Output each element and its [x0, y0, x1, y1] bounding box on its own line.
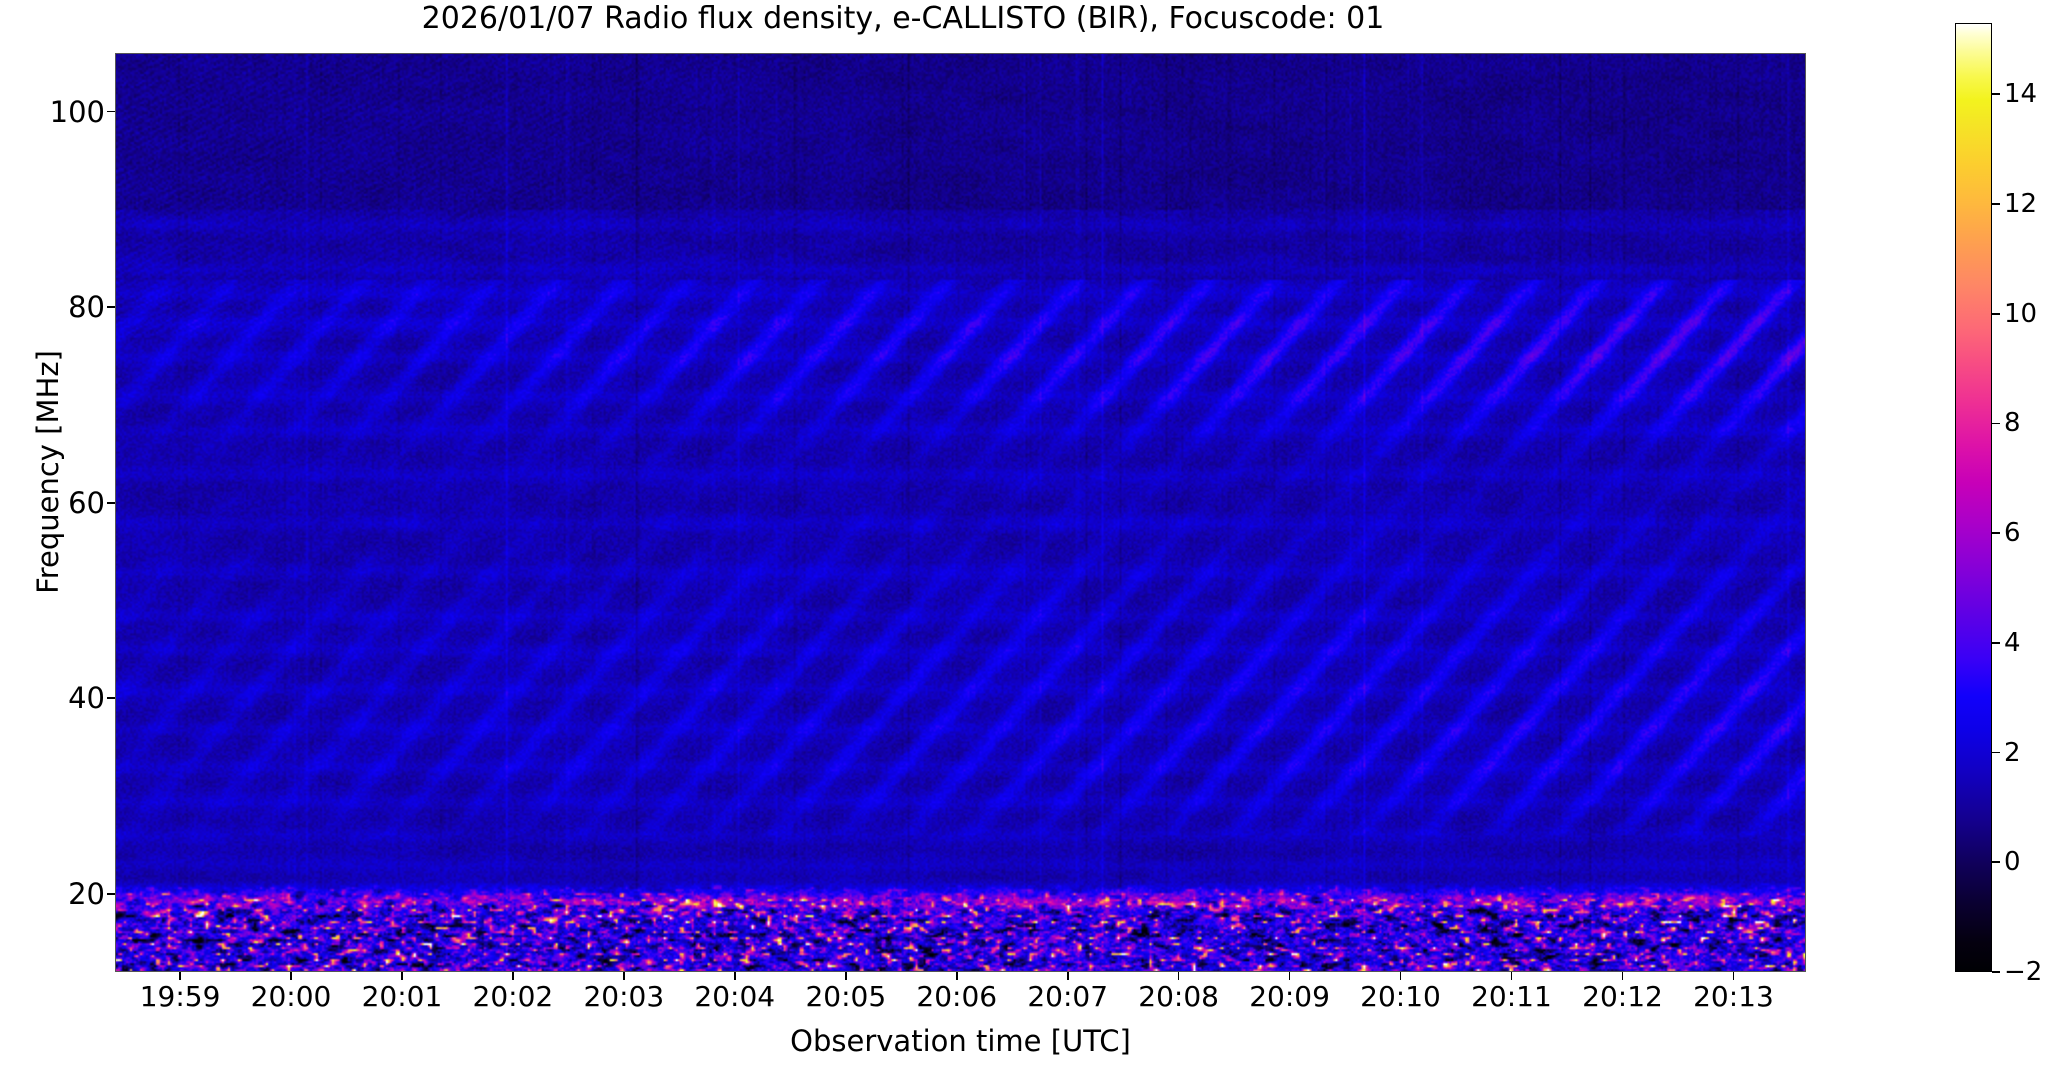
- x-tick-mark: [1289, 972, 1291, 980]
- colorbar-tick-mark: [1992, 203, 2000, 205]
- y-tick-label: 40: [0, 681, 105, 715]
- y-tick-mark: [107, 111, 115, 113]
- colorbar-tick-mark: [1992, 532, 2000, 534]
- page-title: 2026/01/07 Radio flux density, e-CALLIST…: [0, 1, 1806, 36]
- x-tick-mark: [401, 972, 403, 980]
- y-tick-mark: [107, 306, 115, 308]
- y-tick-label: 60: [0, 486, 105, 520]
- x-tick-mark: [1067, 972, 1069, 980]
- y-axis-label: Frequency [MHz]: [31, 72, 65, 872]
- x-axis-label: Observation time [UTC]: [115, 1024, 1806, 1058]
- x-tick-label: 20:13: [1653, 980, 1813, 1013]
- colorbar-tick-label: 4: [2004, 628, 2021, 658]
- colorbar-tick-mark: [1992, 423, 2000, 425]
- colorbar-tick-label: −2: [2004, 957, 2042, 987]
- x-tick-mark: [734, 972, 736, 980]
- colorbar-tick-label: 10: [2004, 299, 2037, 329]
- x-tick-mark: [956, 972, 958, 980]
- x-tick-mark: [1178, 972, 1180, 980]
- colorbar-tick-label: 14: [2004, 79, 2037, 109]
- x-tick-mark: [845, 972, 847, 980]
- y-tick-label: 80: [0, 290, 105, 324]
- y-tick-label: 20: [0, 877, 105, 911]
- colorbar-tick-label: 8: [2004, 408, 2021, 438]
- y-tick-mark: [107, 893, 115, 895]
- x-tick-mark: [1400, 972, 1402, 980]
- colorbar-tick-label: 12: [2004, 189, 2037, 219]
- x-tick-mark: [1733, 972, 1735, 980]
- spectrogram-axes[interactable]: [115, 53, 1806, 972]
- colorbar-tick-mark: [1992, 313, 2000, 315]
- y-tick-label: 100: [0, 95, 105, 129]
- x-tick-mark: [290, 972, 292, 980]
- x-tick-mark: [179, 972, 181, 980]
- colorbar-tick-mark: [1992, 642, 2000, 644]
- colorbar-tick-label: 6: [2004, 518, 2021, 548]
- y-tick-mark: [107, 502, 115, 504]
- colorbar-tick-mark: [1992, 861, 2000, 863]
- x-tick-mark: [1622, 972, 1624, 980]
- x-tick-mark: [623, 972, 625, 980]
- colorbar-tick-mark: [1992, 752, 2000, 754]
- x-tick-mark: [1511, 972, 1513, 980]
- y-tick-mark: [107, 697, 115, 699]
- colorbar-tick-label: 2: [2004, 738, 2021, 768]
- x-tick-mark: [512, 972, 514, 980]
- colorbar[interactable]: 14121086420−2: [1955, 23, 1992, 972]
- colorbar-tick-mark: [1992, 971, 2000, 973]
- colorbar-tick-label: 0: [2004, 847, 2021, 877]
- colorbar-tick-mark: [1992, 93, 2000, 95]
- spectrogram-image: [116, 54, 1806, 972]
- figure-root: 2026/01/07 Radio flux density, e-CALLIST…: [0, 0, 2066, 1067]
- colorbar-gradient: [1955, 23, 1992, 972]
